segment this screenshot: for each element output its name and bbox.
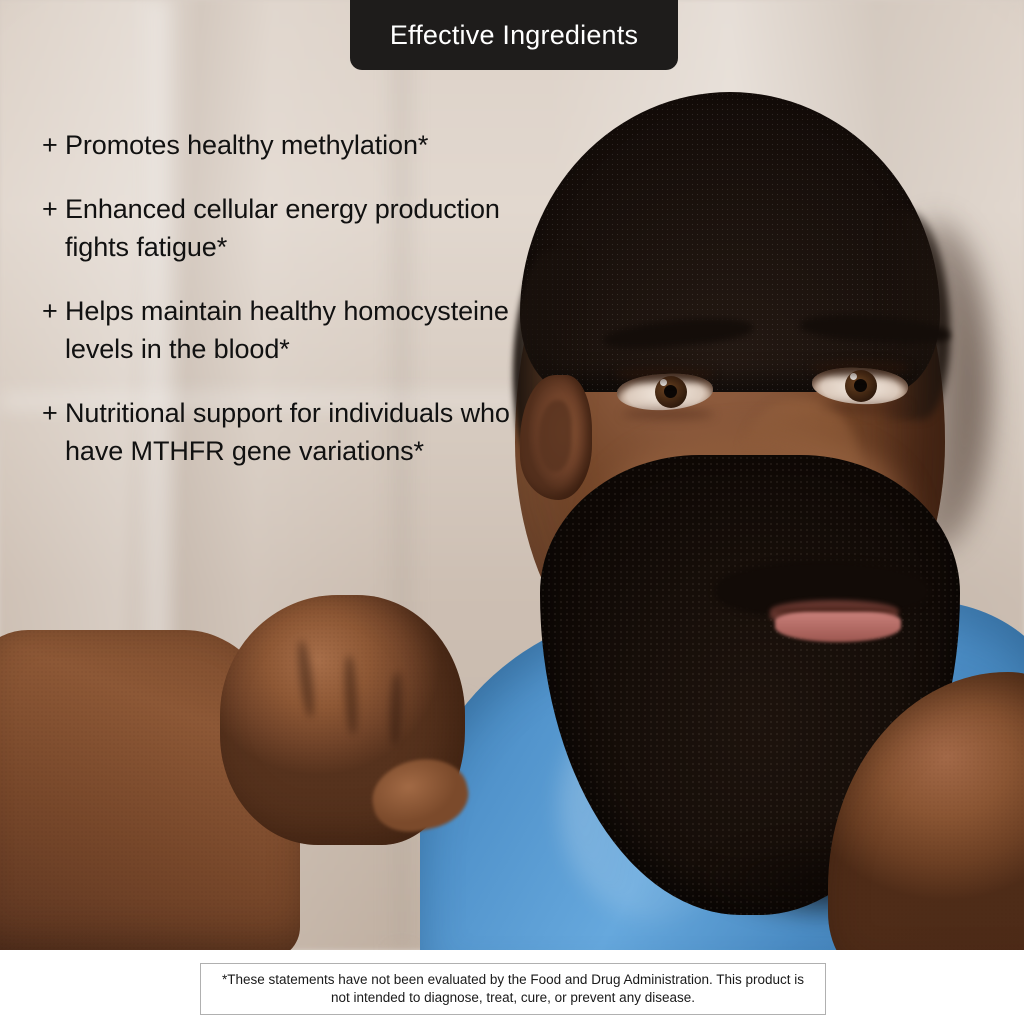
footer-bar: *These statements have not been evaluate… [0,950,1024,1024]
model-hair [520,92,940,392]
plus-icon: + [42,190,65,266]
lower-lip [775,612,901,642]
plus-icon: + [42,292,65,368]
promo-card: Effective Ingredients + Promotes healthy… [0,0,1024,1024]
hair-texture [520,92,940,392]
benefit-text: Enhanced cellular energy production figh… [65,190,512,266]
plus-icon: + [42,126,65,164]
disclaimer-text: *These statements have not been evaluate… [222,972,804,1005]
benefit-text: Promotes healthy methylation* [65,126,428,164]
list-item: + Nutritional support for individuals wh… [42,394,512,470]
benefits-list: + Promotes healthy methylation* + Enhanc… [42,126,512,496]
list-item: + Promotes healthy methylation* [42,126,512,164]
eyelid-left [615,366,715,382]
plus-icon: + [42,394,65,470]
pupil-left [664,385,677,398]
disclaimer-box: *These statements have not been evaluate… [200,963,826,1015]
page-title: Effective Ingredients [390,20,638,51]
eyelid-right [810,360,910,376]
model-ear-inner [538,400,572,472]
under-eye-left [622,408,714,420]
benefit-text: Helps maintain healthy homocysteine leve… [65,292,512,368]
list-item: + Enhanced cellular energy production fi… [42,190,512,266]
list-item: + Helps maintain healthy homocysteine le… [42,292,512,368]
benefit-text: Nutritional support for individuals who … [65,394,512,470]
pupil-right [854,379,867,392]
header-banner: Effective Ingredients [350,0,678,70]
